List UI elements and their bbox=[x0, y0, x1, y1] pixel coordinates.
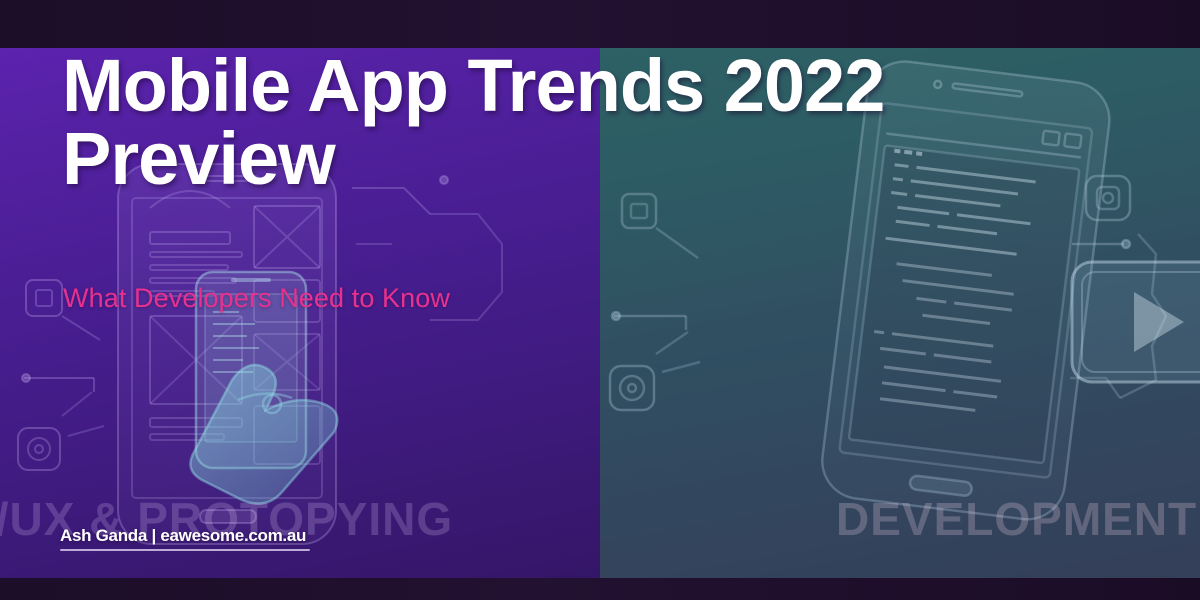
slide-title: Mobile App Trends 2022 Preview bbox=[62, 50, 1002, 195]
letterbox-bar-bottom bbox=[0, 578, 1200, 600]
presentation-slide: I/UX & PROTOPYING bbox=[0, 0, 1200, 600]
letterbox-bar-top bbox=[0, 0, 1200, 48]
slide-title-line-2: Preview bbox=[62, 123, 1002, 196]
slide-title-line-1: Mobile App Trends 2022 bbox=[62, 50, 1002, 123]
footer-underline bbox=[60, 549, 310, 551]
slide-subtitle: What Developers Need to Know bbox=[63, 283, 450, 314]
slide-footer: Ash Ganda | eawesome.com.au bbox=[60, 526, 310, 551]
footer-credit-text[interactable]: Ash Ganda | eawesome.com.au bbox=[60, 526, 310, 546]
slide-content: Mobile App Trends 2022 Preview What Deve… bbox=[0, 0, 1200, 600]
